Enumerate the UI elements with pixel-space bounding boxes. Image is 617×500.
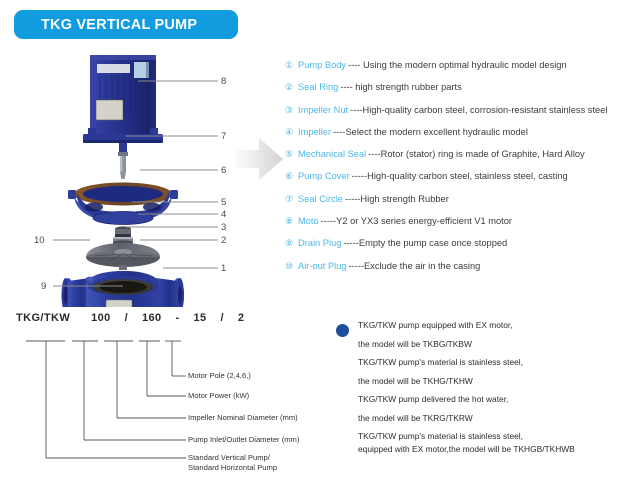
part-desc-1: ---- Using the modern optimal hydraulic … — [348, 60, 567, 70]
page-title-banner: TKG VERTICAL PUMP — [14, 10, 238, 39]
model-caption-motor-pole: Motor Pole (2,4,6,) — [188, 371, 251, 382]
callout-number-10: 10 — [34, 235, 45, 246]
part-desc-5: ----Rotor (stator) ring is made of Graph… — [368, 149, 584, 159]
part-item-1: ① Pump Body ---- Using the modern optima… — [285, 60, 617, 82]
part-name-5: Mechanical Seal — [298, 149, 368, 159]
model-caption-motor-power: Motor Power (kW) — [188, 391, 249, 402]
part-number-10: ⑩ — [285, 261, 298, 272]
parts-description-list: ① Pump Body ---- Using the modern optima… — [285, 60, 617, 283]
part-name-2: Seal Ring — [298, 82, 340, 92]
callout-leader-lines — [20, 42, 255, 307]
note-line-4: the model will be TKHG/TKHW — [336, 376, 611, 386]
part-desc-8: -----Y2 or YX3 series energy-efficient V… — [321, 216, 512, 226]
part-name-6: Pump Cover — [298, 171, 352, 181]
model-caption-inlet-outlet: Pump Inlet/Outlet Diameter (mm) — [188, 435, 299, 446]
right-arrow-icon — [233, 133, 285, 185]
note-line-8: equipped with EX motor,the model will be… — [336, 444, 611, 454]
note-line-2: the model will be TKBG/TKBW — [336, 339, 611, 349]
part-name-7: Seal Circle — [298, 194, 345, 204]
part-item-3: ③ Impeller Nut ----High-quality carbon s… — [285, 105, 617, 127]
part-item-5: ⑤ Mechanical Seal ----Rotor (stator) rin… — [285, 149, 617, 171]
part-desc-10: -----Exclude the air in the casing — [349, 261, 481, 271]
part-name-9: Drain Plug — [298, 238, 343, 248]
part-number-2: ② — [285, 82, 298, 93]
part-name-4: Impeller — [298, 127, 333, 137]
product-spec-page: TKG VERTICAL PUMP — [0, 0, 617, 500]
part-name-3: Impeller Nut — [298, 105, 350, 115]
part-number-3: ③ — [285, 105, 298, 116]
callout-number-5: 5 — [221, 197, 226, 208]
callout-number-3: 3 — [221, 222, 226, 233]
part-desc-3: ----High-quality carbon steel, corrosion… — [350, 105, 607, 115]
part-number-1: ① — [285, 60, 298, 71]
part-desc-2: ---- high strength rubber parts — [340, 82, 461, 92]
part-number-7: ⑦ — [285, 194, 298, 205]
model-caption-impeller-dia: Impeller Nominal Diameter (mm) — [188, 413, 298, 424]
model-caption-standard-horiz: Standard Horizontal Pump — [188, 463, 277, 474]
part-item-9: ⑨ Drain Plug -----Empty the pump case on… — [285, 238, 617, 260]
part-desc-9: -----Empty the pump case once stopped — [343, 238, 507, 248]
part-name-8: Moto — [298, 216, 321, 226]
callout-number-7: 7 — [221, 131, 226, 142]
part-item-10: ⑩ Air-out Plug -----Exclude the air in t… — [285, 261, 617, 283]
part-number-6: ⑥ — [285, 171, 298, 182]
part-item-6: ⑥ Pump Cover -----High-quality carbon st… — [285, 171, 617, 193]
note-line-6: the model will be TKRG/TKRW — [336, 413, 611, 423]
part-item-8: ⑧ Moto -----Y2 or YX3 series energy-effi… — [285, 216, 617, 238]
callout-number-6: 6 — [221, 165, 226, 176]
callout-number-4: 4 — [221, 209, 226, 220]
note-line-5: TKG/TKW pump delivered the hot water, — [336, 394, 611, 404]
part-name-1: Pump Body — [298, 60, 348, 70]
part-number-9: ⑨ — [285, 238, 298, 249]
callout-number-2: 2 — [221, 235, 226, 246]
callout-number-9: 9 — [41, 281, 46, 292]
part-item-4: ④ Impeller ----Select the modern excelle… — [285, 127, 617, 149]
note-line-1: TKG/TKW pump equipped with EX motor, — [336, 320, 611, 330]
page-title: TKG VERTICAL PUMP — [14, 17, 197, 33]
part-item-2: ② Seal Ring ---- high strength rubber pa… — [285, 82, 617, 104]
model-caption-standard-vert: Standard Vertical Pump/ — [188, 453, 270, 464]
note-line-7: TKG/TKW pump's material is stainless ste… — [336, 431, 611, 441]
model-variant-notes: TKG/TKW pump equipped with EX motor, the… — [336, 320, 611, 454]
callout-number-8: 8 — [221, 76, 226, 87]
pump-exploded-diagram: 8 7 6 5 4 3 2 1 10 9 — [20, 42, 255, 307]
part-name-10: Air-out Plug — [298, 261, 349, 271]
note-line-3: TKG/TKW pump's material is stainless ste… — [336, 357, 611, 367]
part-item-7: ⑦ Seal Circle -----High strength Rubber — [285, 194, 617, 216]
part-desc-6: -----High-quality carbon steel, stainles… — [352, 171, 568, 181]
callout-number-1: 1 — [221, 263, 226, 274]
part-desc-7: -----High strength Rubber — [345, 194, 449, 204]
part-number-8: ⑧ — [285, 216, 298, 227]
model-designation-diagram: TKG/TKW 100 / 160 - 15 / 2 — [8, 312, 318, 492]
part-number-4: ④ — [285, 127, 298, 138]
part-number-5: ⑤ — [285, 149, 298, 160]
bullet-dot-icon — [336, 324, 349, 337]
part-desc-4: ----Select the modern excellent hydrauli… — [333, 127, 528, 137]
